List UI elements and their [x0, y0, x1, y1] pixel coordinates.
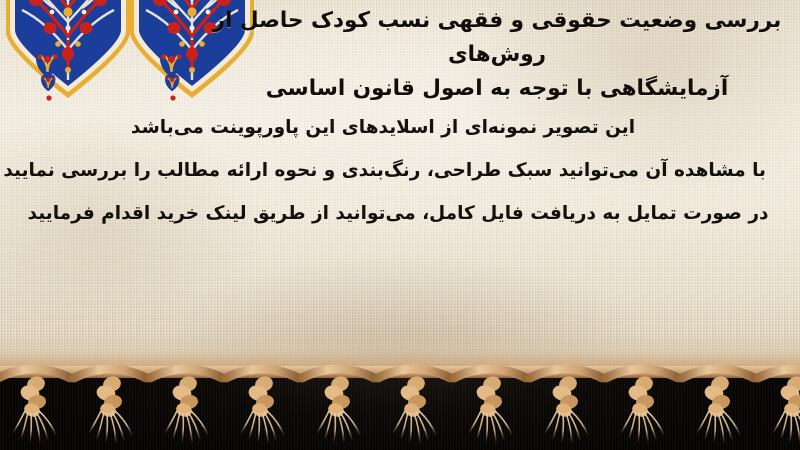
slide-body-line-3: در صورت تمایل به دریافت فایل کامل، می‌تو… — [24, 192, 772, 235]
carpet-medallion-ornament-left — [2, 0, 134, 106]
slide-body-line-2: با مشاهده آن می‌توانید سبک طراحی، رنگ‌بن… — [24, 149, 766, 192]
slide-title-line-1: بررسی وضعیت حقوقی و فقهی نسب کودک حاصل ا… — [206, 4, 788, 72]
slide-title: بررسی وضعیت حقوقی و فقهی نسب کودک حاصل ا… — [206, 4, 788, 106]
slide-title-line-2: آزمایشگاهی با توجه به اصول قانون اساسی — [206, 72, 788, 106]
slide-body-line-1: این تصویر نمونه‌ای از اسلایدهای این پاور… — [24, 106, 742, 149]
fringe-tassels — [0, 362, 800, 450]
slide-body: این تصویر نمونه‌ای از اسلایدهای این پاور… — [24, 106, 772, 235]
slide-canvas: بررسی وضعیت حقوقی و فقهی نسب کودک حاصل ا… — [0, 0, 800, 450]
